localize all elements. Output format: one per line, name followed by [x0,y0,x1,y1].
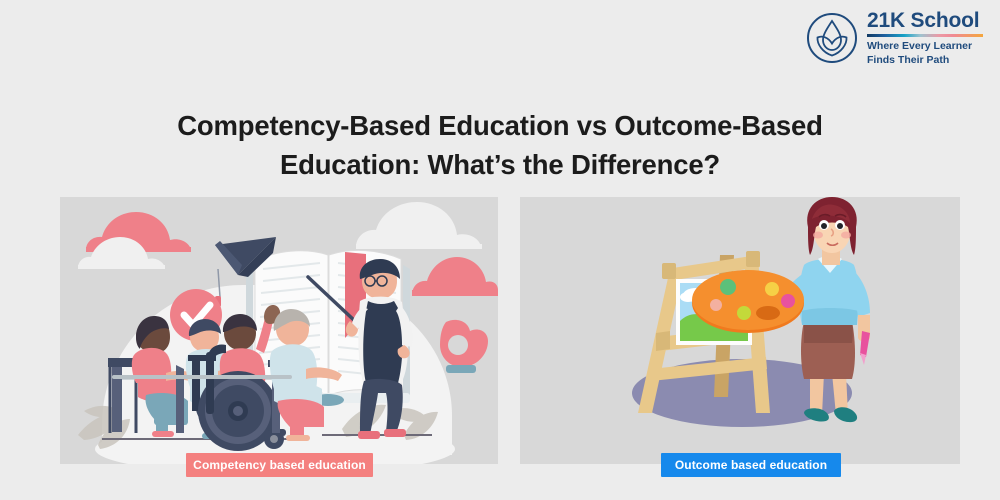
brand-logo[interactable]: 21K School Where Every Learner Finds The… [806,9,992,67]
brand-name: 21K School [867,10,983,31]
brand-logo-text: 21K School Where Every Learner Finds The… [867,9,983,66]
panel-outcome-based-education [520,197,960,464]
brand-tagline-line1: Where Every Learner [867,40,983,53]
page-title-line1: Competency-Based Education vs Outcome-Ba… [177,110,822,141]
badge-competency-based-education[interactable]: Competency based education [186,453,373,477]
panel-competency-based-education [60,197,498,464]
brand-tagline-line2: Finds Their Path [867,54,983,67]
badge-outcome-based-education[interactable]: Outcome based education [661,453,841,477]
page-title: Competency-Based Education vs Outcome-Ba… [100,106,900,184]
brand-gradient-rule [867,34,983,37]
ok-hand-gesture-shape [440,320,488,373]
lotus-circle-logo-icon [806,12,858,64]
page-title-line2: Education: What’s the Difference? [280,149,720,180]
paint-palette-shape [692,270,804,333]
classroom-teacher-students-illustration [60,197,498,464]
artist-easel-painting-illustration [520,197,960,464]
poster-canvas: 21K School Where Every Learner Finds The… [0,0,1000,500]
